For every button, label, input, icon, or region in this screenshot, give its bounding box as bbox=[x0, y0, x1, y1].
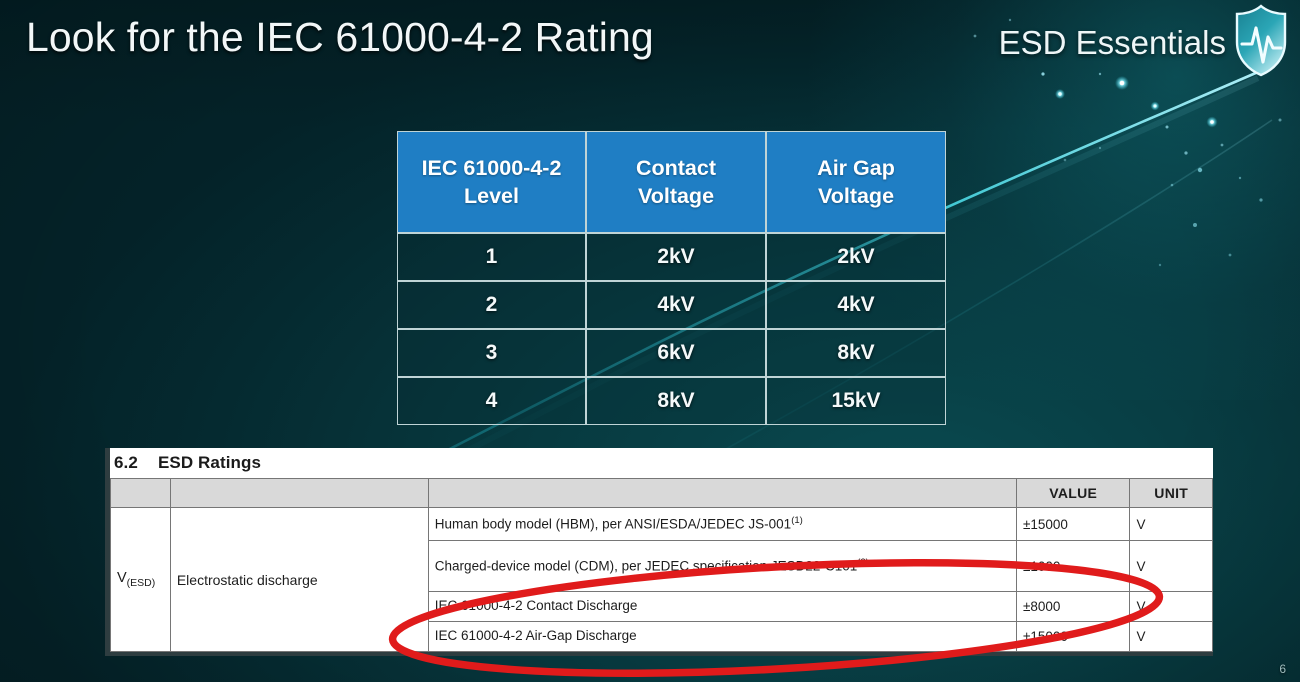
page-title: Look for the IEC 61000-4-2 Rating bbox=[26, 14, 654, 61]
iec-header-level: IEC 61000-4-2 Level bbox=[397, 131, 586, 233]
table-row: 3 6kV 8kV bbox=[397, 329, 946, 377]
iec-cell-airgap: 8kV bbox=[766, 329, 946, 377]
esd-description-hbm: Human body model (HBM), per ANSI/ESDA/JE… bbox=[428, 508, 1016, 541]
slide-canvas: Look for the IEC 61000-4-2 Rating ESD Es… bbox=[0, 0, 1300, 682]
page-number: 6 bbox=[1279, 662, 1286, 676]
shield-pulse-icon bbox=[1232, 4, 1290, 78]
iec-header-contact: Contact Voltage bbox=[586, 131, 766, 233]
iec-cell-airgap: 4kV bbox=[766, 281, 946, 329]
esd-description-hbm-text: Human body model (HBM), per ANSI/ESDA/JE… bbox=[435, 516, 791, 531]
iec-level-table: IEC 61000-4-2 Level Contact Voltage Air … bbox=[397, 131, 946, 425]
iec-cell-level: 2 bbox=[397, 281, 586, 329]
datasheet-section-heading: 6.2ESD Ratings bbox=[110, 448, 1213, 478]
esd-header-unit: UNIT bbox=[1130, 479, 1213, 508]
esd-unit-contact: V bbox=[1130, 592, 1213, 622]
iec-cell-level: 3 bbox=[397, 329, 586, 377]
iec-cell-level: 4 bbox=[397, 377, 586, 425]
datasheet-section-number: 6.2 bbox=[114, 453, 138, 472]
esd-header-symbol bbox=[111, 479, 171, 508]
esd-description-hbm-footnote: (1) bbox=[791, 515, 803, 526]
esd-value-hbm: ±15000 bbox=[1016, 508, 1130, 541]
esd-value-airgap: ±15000 bbox=[1016, 622, 1130, 652]
iec-cell-contact: 4kV bbox=[586, 281, 766, 329]
esd-ratings-table: VALUE UNIT V(ESD) Electrostatic discharg… bbox=[110, 478, 1213, 652]
esd-description-airgap: IEC 61000-4-2 Air-Gap Discharge bbox=[428, 622, 1016, 652]
iec-cell-airgap: 15kV bbox=[766, 377, 946, 425]
esd-value-contact: ±8000 bbox=[1016, 592, 1130, 622]
iec-header-airgap-line2: Voltage bbox=[818, 184, 894, 208]
datasheet-excerpt: 6.2ESD Ratings VALUE UNIT V(ESD) Electro… bbox=[105, 448, 1213, 656]
iec-header-level-line2: Level bbox=[464, 184, 519, 208]
esd-unit-airgap: V bbox=[1130, 622, 1213, 652]
iec-header-contact-line1: Contact bbox=[636, 156, 716, 180]
iec-table-header-row: IEC 61000-4-2 Level Contact Voltage Air … bbox=[397, 131, 946, 233]
datasheet-section-title: ESD Ratings bbox=[158, 453, 261, 472]
table-row: 4 8kV 15kV bbox=[397, 377, 946, 425]
brand-lockup: ESD Essentials bbox=[999, 8, 1290, 78]
esd-parameter-cell: Electrostatic discharge bbox=[170, 508, 428, 652]
table-row: 2 4kV 4kV bbox=[397, 281, 946, 329]
brand-label: ESD Essentials bbox=[999, 24, 1226, 62]
iec-cell-contact: 2kV bbox=[586, 233, 766, 281]
iec-header-level-line1: IEC 61000-4-2 bbox=[422, 156, 562, 180]
esd-unit-hbm: V bbox=[1130, 508, 1213, 541]
esd-symbol-cell: V(ESD) bbox=[111, 508, 171, 652]
esd-description-cdm-footnote: (2) bbox=[857, 557, 869, 568]
iec-cell-airgap: 2kV bbox=[766, 233, 946, 281]
table-row: 1 2kV 2kV bbox=[397, 233, 946, 281]
esd-table-header-row: VALUE UNIT bbox=[111, 479, 1213, 508]
esd-symbol-main: V bbox=[117, 570, 127, 586]
esd-header-description bbox=[428, 479, 1016, 508]
esd-value-cdm: ±1000 bbox=[1016, 541, 1130, 592]
iec-cell-level: 1 bbox=[397, 233, 586, 281]
iec-header-airgap: Air Gap Voltage bbox=[766, 131, 946, 233]
esd-description-contact: IEC 61000-4-2 Contact Discharge bbox=[428, 592, 1016, 622]
iec-cell-contact: 6kV bbox=[586, 329, 766, 377]
iec-header-contact-line2: Voltage bbox=[638, 184, 714, 208]
esd-symbol-sub: (ESD) bbox=[127, 577, 156, 589]
esd-unit-cdm: V bbox=[1130, 541, 1213, 592]
esd-header-value: VALUE bbox=[1016, 479, 1130, 508]
iec-header-airgap-line1: Air Gap bbox=[817, 156, 895, 180]
iec-cell-contact: 8kV bbox=[586, 377, 766, 425]
esd-description-cdm-text: Charged-device model (CDM), per JEDEC sp… bbox=[435, 558, 857, 573]
esd-header-parameter bbox=[170, 479, 428, 508]
esd-description-cdm: Charged-device model (CDM), per JEDEC sp… bbox=[428, 541, 1016, 592]
table-row: V(ESD) Electrostatic discharge Human bod… bbox=[111, 508, 1213, 541]
